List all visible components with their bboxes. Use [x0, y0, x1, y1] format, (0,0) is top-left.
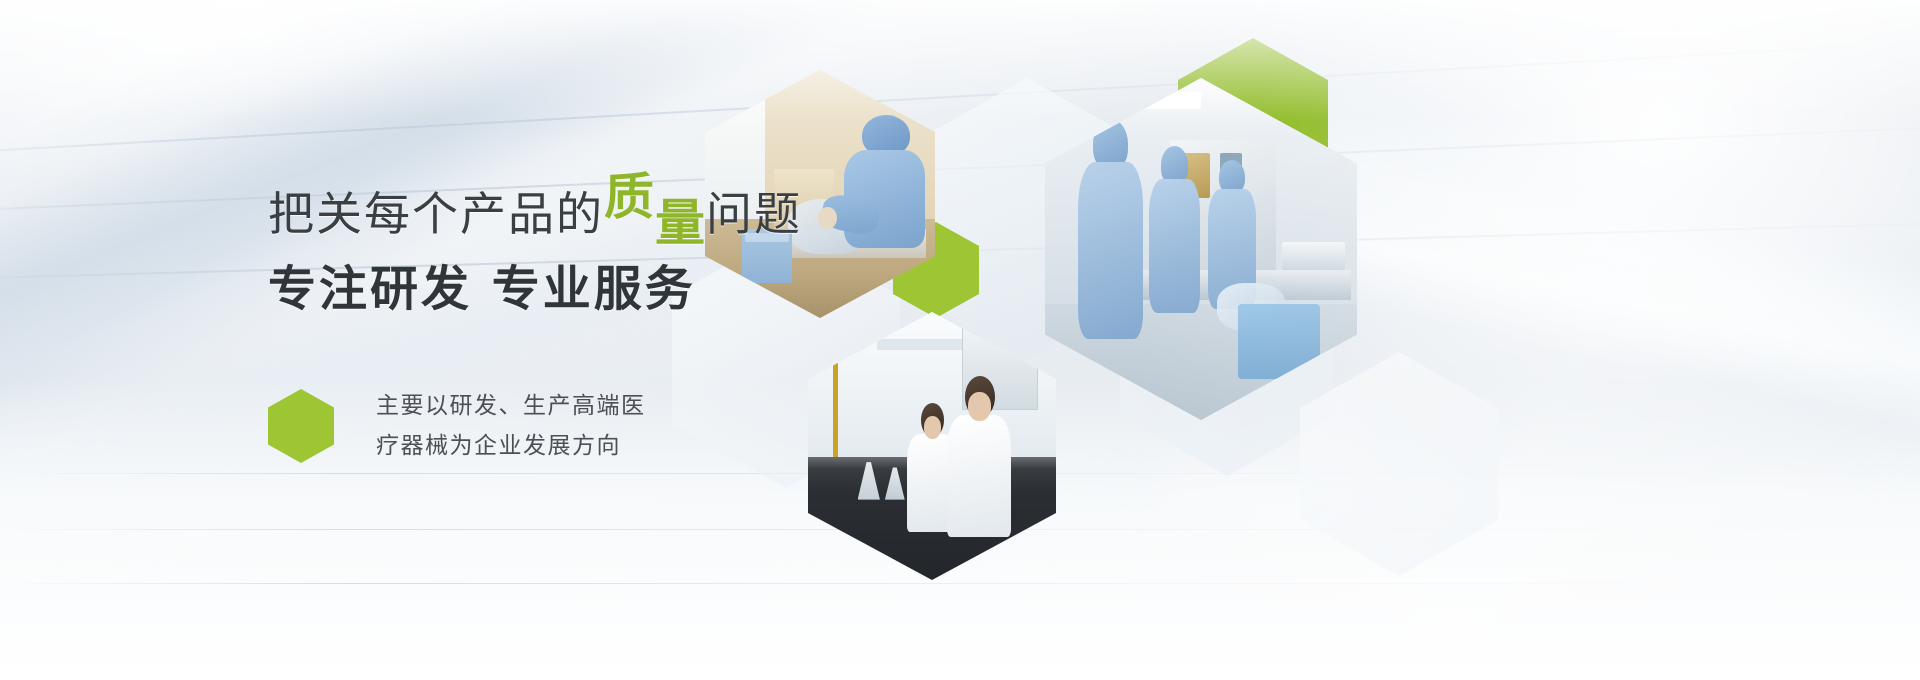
banner-stage: 把关每个产品的质量问题 专注研发 专业服务 主要以研发、生产高端医 疗器械为企业…	[0, 0, 1920, 680]
headline-line-2: 专注研发 专业服务	[268, 263, 802, 316]
subtitle-line-1: 主要以研发、生产高端医	[376, 386, 646, 426]
headline-accent-liang: 量	[655, 196, 706, 251]
subtitle-line-2: 疗器械为企业发展方向	[376, 426, 646, 466]
headline-suffix: 问题	[706, 187, 802, 241]
hexagon-cluster	[690, 0, 1920, 680]
headline-accent-zhi: 质	[604, 170, 655, 225]
hexagon-bullet-icon	[268, 389, 334, 463]
subtitle-row: 主要以研发、生产高端医 疗器械为企业发展方向	[268, 386, 802, 467]
headline-prefix: 把关每个产品的	[268, 187, 604, 241]
subtitle-text: 主要以研发、生产高端医 疗器械为企业发展方向	[376, 386, 646, 467]
banner-copy: 把关每个产品的质量问题 专注研发 专业服务 主要以研发、生产高端医 疗器械为企业…	[268, 186, 802, 466]
headline-line-1: 把关每个产品的质量问题	[268, 186, 802, 241]
